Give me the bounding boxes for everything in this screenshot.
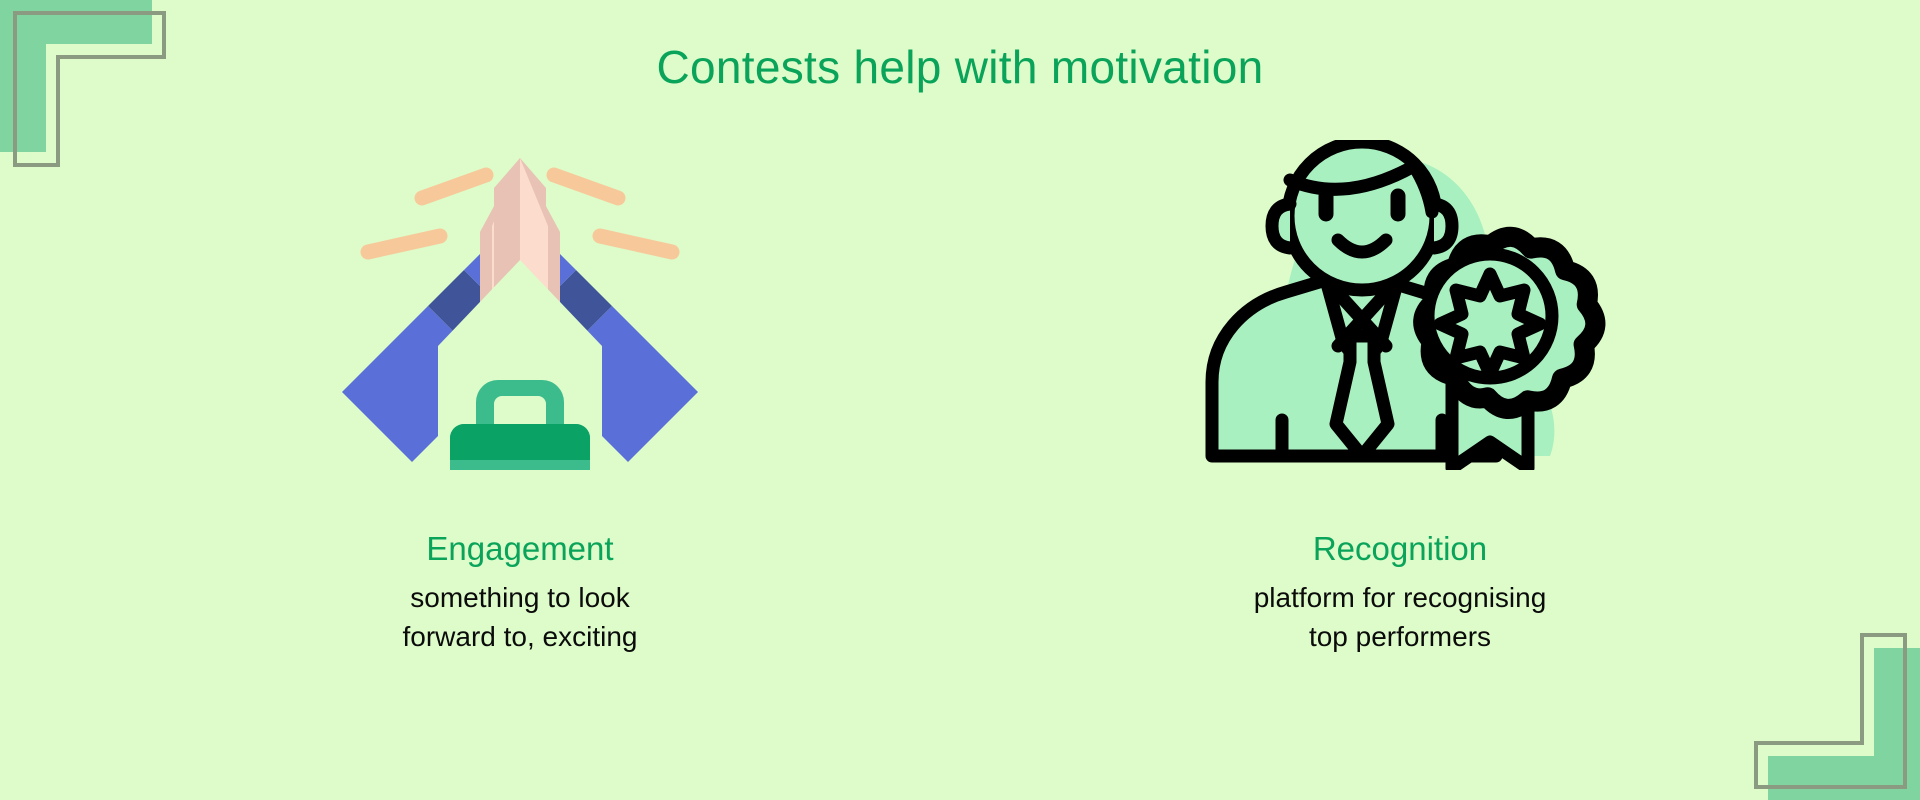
page-title: Contests help with motivation [0, 42, 1920, 93]
engagement-description: something to look forward to, exciting [403, 578, 638, 656]
slide-canvas: Contests help with motivation [0, 0, 1920, 800]
recognition-caption: Recognition platform for recognising top… [1254, 530, 1547, 656]
person-award-badge-icon [1190, 140, 1610, 470]
spark-lines-left [368, 175, 486, 252]
recognition-description: platform for recognising top performers [1254, 578, 1547, 656]
high-five-hands-briefcase-icon [340, 140, 700, 470]
engagement-title: Engagement [403, 530, 638, 568]
engagement-caption: Engagement something to look forward to,… [403, 530, 638, 656]
feature-columns: Engagement something to look forward to,… [0, 140, 1920, 780]
recognition-art [1190, 140, 1610, 470]
award-badge-icon [1423, 237, 1595, 468]
spark-lines-right [554, 175, 672, 252]
feature-card-engagement: Engagement something to look forward to,… [190, 140, 850, 656]
feature-card-recognition: Recognition platform for recognising top… [1070, 140, 1730, 656]
recognition-title: Recognition [1254, 530, 1547, 568]
engagement-art [340, 140, 700, 470]
